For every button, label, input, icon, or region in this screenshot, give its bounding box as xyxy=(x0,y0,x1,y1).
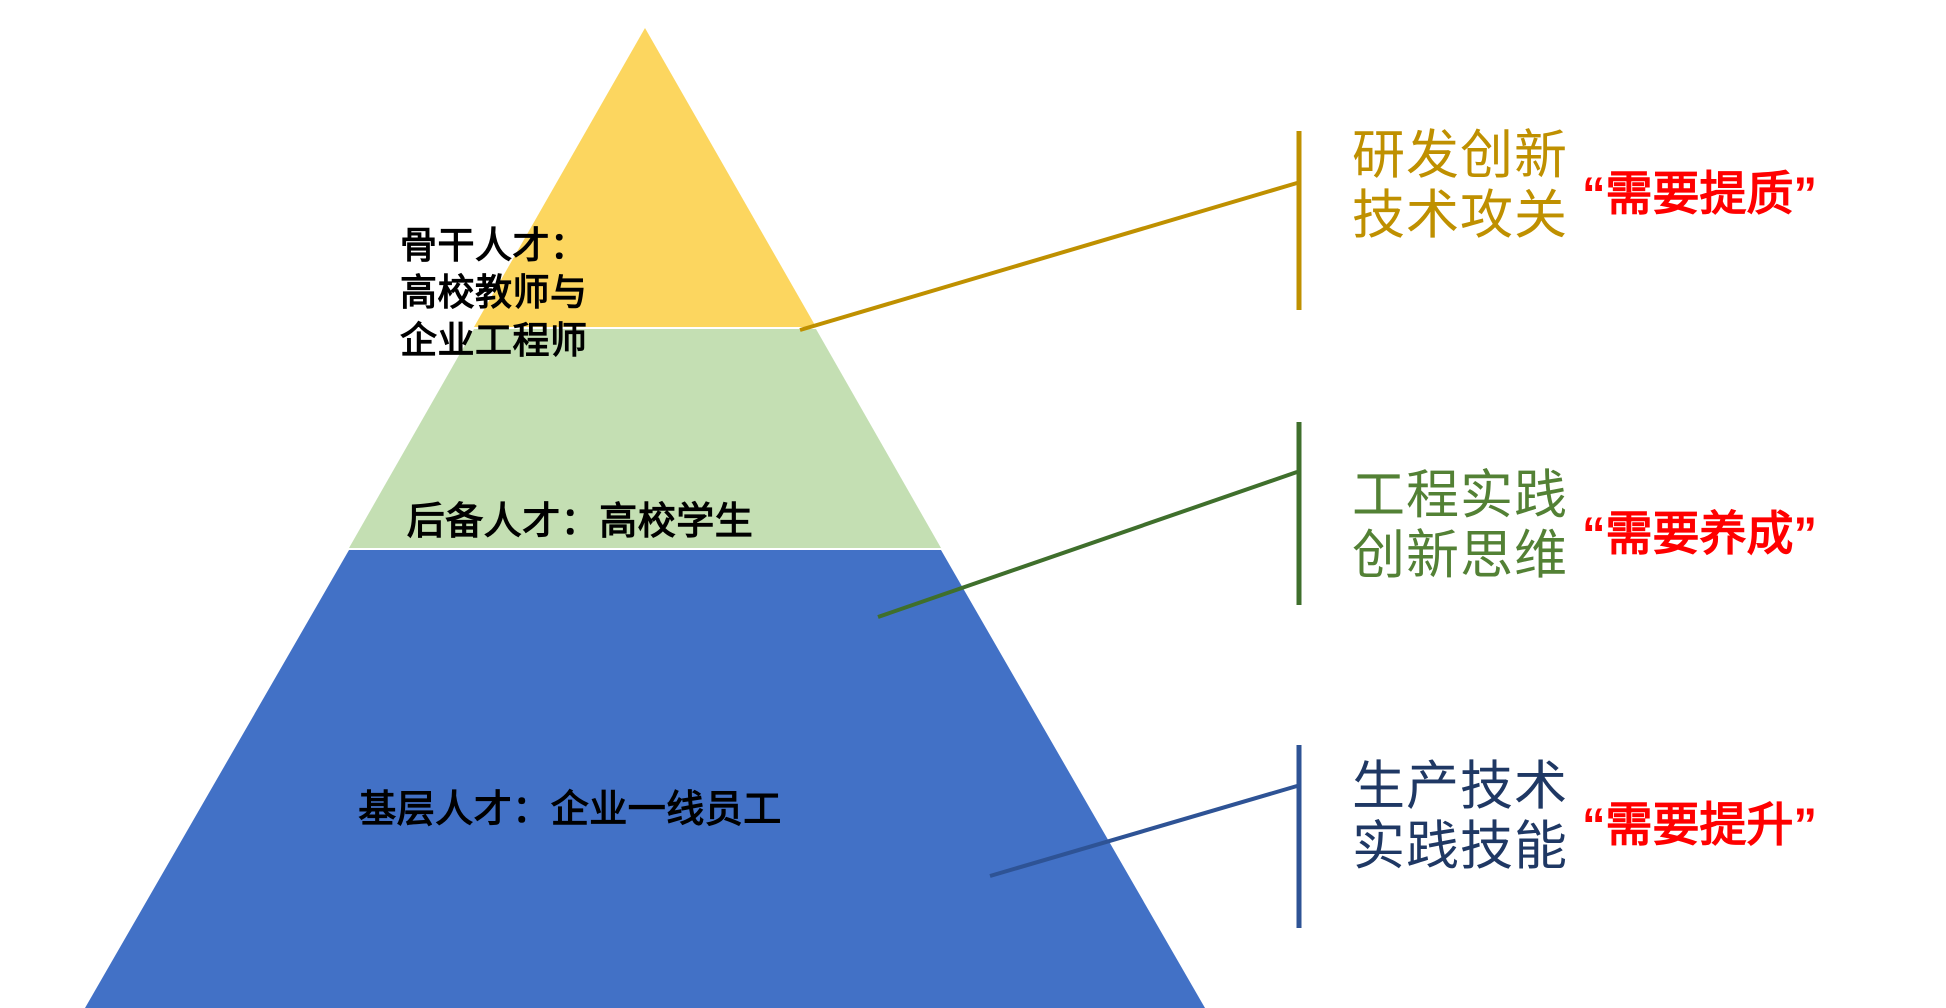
pyramid-band-top xyxy=(474,28,816,327)
annotation-callout-bottom: “需要提升” xyxy=(1582,786,1817,855)
annotation-callout-top: “需要提质” xyxy=(1582,155,1817,224)
annotation-group-top: 研发创新 技术攻关 “需要提质” xyxy=(1352,126,1817,246)
connector-line-middle xyxy=(878,472,1297,617)
annotation-theme-top: 研发创新 技术攻关 xyxy=(1352,126,1568,246)
connector-line-top xyxy=(800,183,1297,330)
annotation-theme-middle: 工程实践 创新思维 xyxy=(1352,466,1568,586)
pyramid-band-middle xyxy=(349,329,941,548)
annotation-group-bottom: 生产技术 实践技能 “需要提升” xyxy=(1352,757,1817,877)
annotation-callout-middle: “需要养成” xyxy=(1582,495,1817,564)
pyramid-band-bottom xyxy=(85,550,1205,1008)
diagram-canvas: 骨干人才： 高校教师与 企业工程师 后备人才：高校学生 基层人才：企业一线员工 … xyxy=(0,0,1946,1008)
annotation-group-middle: 工程实践 创新思维 “需要养成” xyxy=(1352,466,1817,586)
annotation-theme-bottom: 生产技术 实践技能 xyxy=(1352,757,1568,877)
